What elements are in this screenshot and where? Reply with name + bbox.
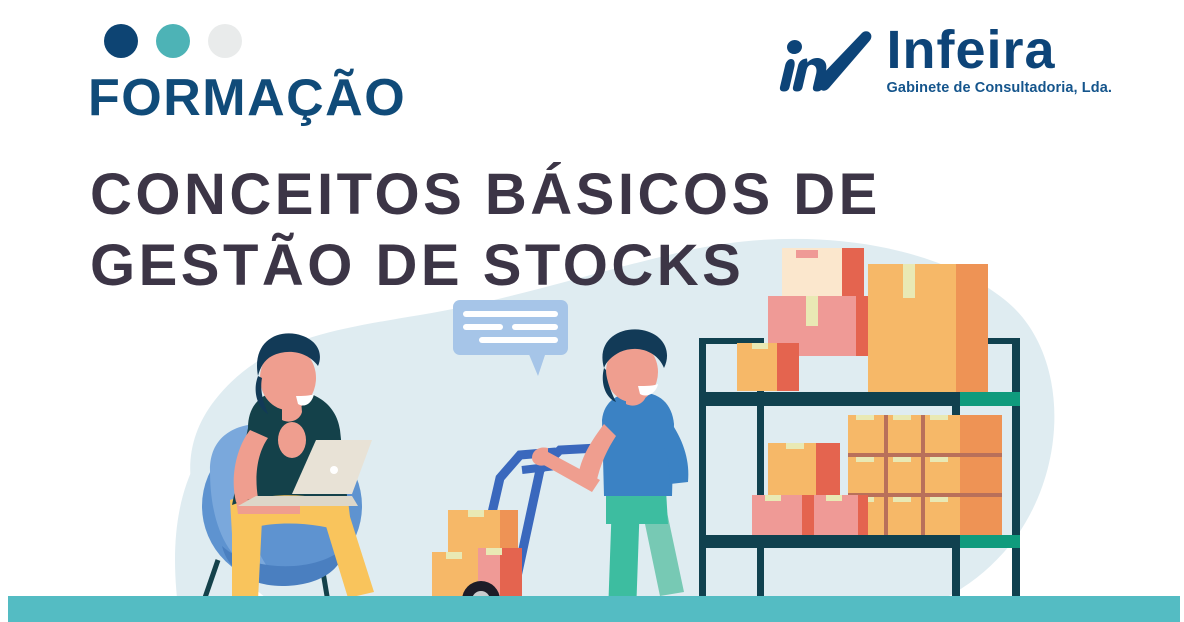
dot-navy-icon [104, 24, 138, 58]
logo-tagline: Gabinete de Consultadoria, Lda. [887, 80, 1112, 96]
eyebrow-label: FORMAÇÃO [88, 72, 406, 124]
brand-logo: Infeira Gabinete de Consultadoria, Lda. [777, 24, 1112, 96]
logo-wordmark: Infeira [887, 24, 1056, 77]
page-title: CONCEITOS BÁSICOS DE GESTÃO DE STOCKS [90, 160, 881, 302]
training-course-poster: FORMAÇÃO CONCEITOS BÁSICOS DE GESTÃO DE … [0, 0, 1184, 622]
in-monogram-icon [777, 30, 873, 92]
dot-teal-icon [156, 24, 190, 58]
dot-grey-icon [208, 24, 242, 58]
decorative-dots [104, 24, 242, 58]
